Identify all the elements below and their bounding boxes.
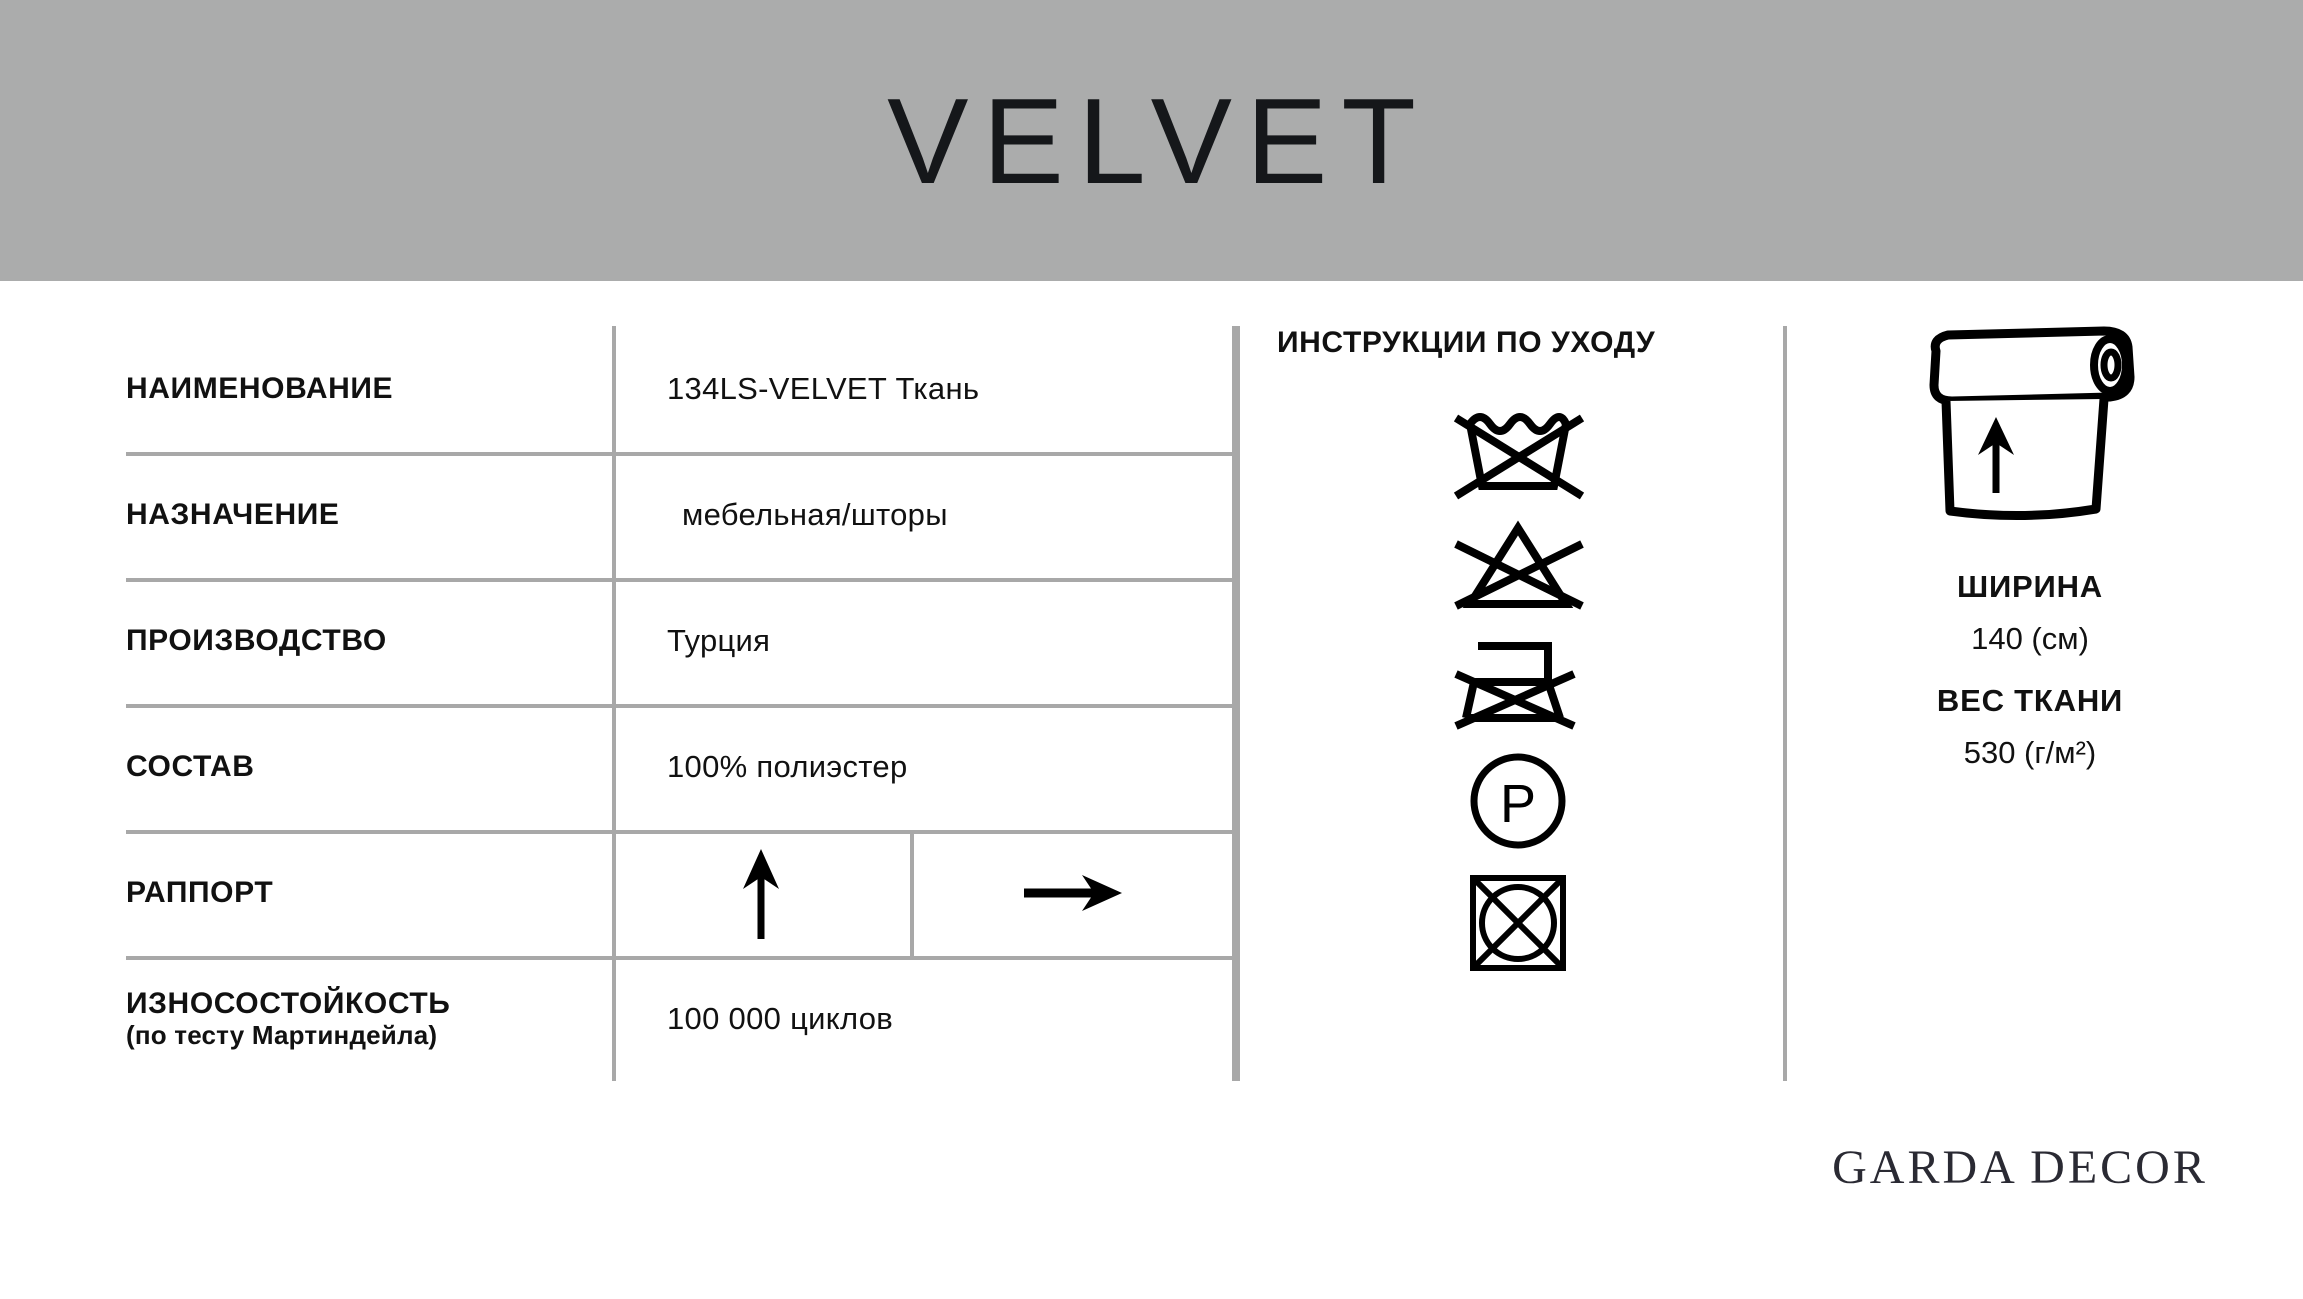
repeat-horizontal-cell xyxy=(910,858,1236,928)
header-banner: VELVET xyxy=(0,0,2303,281)
professional-dry-clean-p-icon: P xyxy=(1463,746,1573,856)
fabric-dimensions-section: ШИРИНА 140 (см) ВЕС ТКАНИ 530 (г/м²) xyxy=(1800,321,2260,771)
table-row: ИЗНОСОСТОЙКОСТЬ (по тесту Мартиндейла) 1… xyxy=(126,956,1236,1081)
arrow-right-icon xyxy=(1018,858,1128,928)
spec-label: ПРОИЗВОДСТВО xyxy=(126,624,612,658)
weight-value: 530 (г/м²) xyxy=(1964,735,2097,771)
spec-value: Турция xyxy=(612,623,1236,659)
do-not-bleach-icon xyxy=(1444,514,1592,618)
table-row: НАЗНАЧЕНИЕ мебельная/шторы xyxy=(126,452,1236,578)
spec-label: НАЗНАЧЕНИЕ xyxy=(126,498,612,532)
care-left-divider xyxy=(1236,326,1240,1081)
table-row: СОСТАВ 100% полиэстер xyxy=(126,704,1236,830)
spec-label: НАИМЕНОВАНИЕ xyxy=(126,372,612,406)
table-row: НАИМЕНОВАНИЕ 134LS-VELVET Ткань xyxy=(126,326,1236,452)
spec-label: СОСТАВ xyxy=(126,750,612,784)
repeat-vertical-cell xyxy=(612,843,910,943)
care-right-divider xyxy=(1783,326,1787,1081)
brand-logo: GARDA DECOR xyxy=(1790,1140,2250,1195)
care-instructions-title: ИНСТРУКЦИИ ПО УХОДУ xyxy=(1255,326,1780,360)
width-label: ШИРИНА xyxy=(1957,569,2103,605)
weight-label: ВЕС ТКАНИ xyxy=(1937,683,2123,719)
spec-label: РАППОРТ xyxy=(126,876,612,910)
specification-table: НАИМЕНОВАНИЕ 134LS-VELVET Ткань НАЗНАЧЕН… xyxy=(126,326,1236,1081)
spec-label-main: ИЗНОСОСТОЙКОСТЬ xyxy=(126,987,450,1020)
do-not-tumble-dry-icon xyxy=(1463,868,1573,978)
width-value: 140 (см) xyxy=(1971,621,2089,657)
spec-value: 134LS-VELVET Ткань xyxy=(612,371,1236,407)
spec-label: ИЗНОСОСТОЙКОСТЬ (по тесту Мартиндейла) xyxy=(126,987,612,1050)
repeat-direction-cells xyxy=(612,830,1236,956)
do-not-iron-icon xyxy=(1444,630,1592,734)
do-not-wash-icon xyxy=(1444,398,1592,502)
care-instructions-section: ИНСТРУКЦИИ ПО УХОДУ xyxy=(1255,326,1780,978)
svg-text:P: P xyxy=(1499,774,1535,834)
spec-value: 100 000 циклов xyxy=(612,1001,1236,1037)
spec-label-sub: (по тесту Мартиндейла) xyxy=(126,1021,612,1050)
arrow-up-icon xyxy=(726,843,796,943)
fabric-roll-icon xyxy=(1914,321,2146,543)
spec-value: 100% полиэстер xyxy=(612,749,1236,785)
page-title: VELVET xyxy=(873,80,1430,202)
spec-value: мебельная/шторы xyxy=(612,497,1236,533)
table-row: ПРОИЗВОДСТВО Турция xyxy=(126,578,1236,704)
care-symbol-list: P xyxy=(1255,398,1780,978)
